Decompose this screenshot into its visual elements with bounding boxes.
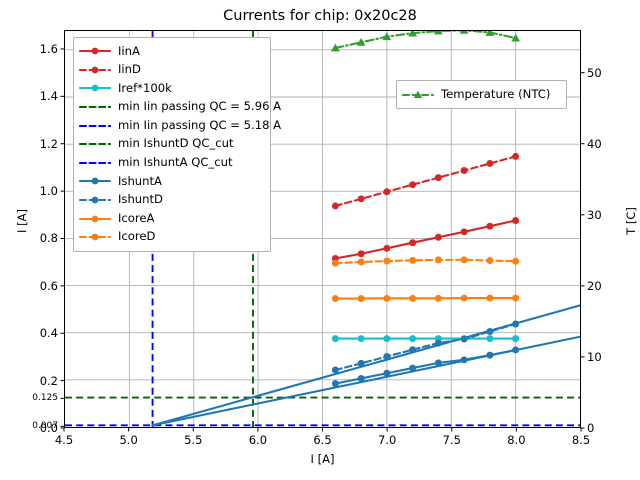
legend-swatch-icon xyxy=(79,174,111,188)
legend-swatch-icon xyxy=(79,137,111,151)
x-axis-label: I [A] xyxy=(64,452,581,466)
legend-item-min-ishunta-qc-cut[interactable]: min IshuntA QC_cut xyxy=(79,154,264,173)
y-axis-label-left: I [A] xyxy=(15,191,29,251)
legend-item-temperature-ntc[interactable]: Temperature (NTC) xyxy=(402,85,560,104)
page-title: Currents for chip: 0x20c28 xyxy=(0,8,640,24)
legend-label: IcoreD xyxy=(118,231,155,243)
y-tick-label-left: 0.2 xyxy=(0,374,58,388)
y-axis-label-right: T [C] xyxy=(624,191,638,251)
legend-swatch-icon xyxy=(79,230,111,244)
legend-label: IshuntA xyxy=(118,176,162,188)
y-tick-label-right: 40 xyxy=(587,137,602,151)
legend-item-iind[interactable]: IinD xyxy=(79,61,264,80)
series-Temperature (NTC) xyxy=(331,30,520,51)
series-IinD xyxy=(332,153,519,209)
y-tick-label-left: 0.8 xyxy=(0,231,58,245)
y-tick-label-left: 1.0 xyxy=(0,184,58,198)
legend-label: IinA xyxy=(118,46,140,58)
y-tick-label-left: 0.125 xyxy=(0,393,58,403)
legend-item-min-iin-passing-qc-5-96-a[interactable]: min Iin passing QC = 5.96 A xyxy=(79,98,264,117)
legend-item-icored[interactable]: IcoreD xyxy=(79,228,264,247)
x-tick-label: 7.5 xyxy=(443,433,461,447)
legend-label: IcoreA xyxy=(118,213,154,225)
legend-swatch-icon xyxy=(79,63,111,77)
legend-item-min-ishuntd-qc-cut[interactable]: min IshuntD QC_cut xyxy=(79,135,264,154)
legend-swatch-icon xyxy=(402,88,434,102)
y-tick-label-right: 30 xyxy=(587,208,602,222)
series-IcoreA xyxy=(332,295,519,302)
y-tick-label-right: 10 xyxy=(587,350,602,364)
legend-swatch-icon xyxy=(79,100,111,114)
x-tick-label: 6.0 xyxy=(249,433,267,447)
legend-temperature[interactable]: Temperature (NTC) xyxy=(396,80,567,109)
y-tick-label-left: 0.007 xyxy=(0,421,58,431)
x-tick-label: 6.5 xyxy=(313,433,331,447)
y-tick-label-left: 1.2 xyxy=(0,137,58,151)
y-tick-label-left: 1.6 xyxy=(0,42,58,56)
x-tick-label: 7.0 xyxy=(378,433,396,447)
legend-label: Temperature (NTC) xyxy=(441,89,550,101)
legend-swatch-icon xyxy=(79,156,111,170)
y-tick-label-left: 0.6 xyxy=(0,279,58,293)
y-tick-label-left: 0.4 xyxy=(0,326,58,340)
legend-swatch-icon xyxy=(79,193,111,207)
legend-swatch-icon xyxy=(79,119,111,133)
legend-item-iina[interactable]: IinA xyxy=(79,42,264,61)
series-Iref*100k xyxy=(332,335,519,342)
legend-swatch-icon xyxy=(79,44,111,58)
y-tick-label-right: 0 xyxy=(587,421,594,435)
y-tick-label-right: 20 xyxy=(587,279,602,293)
x-tick-label: 8.0 xyxy=(507,433,525,447)
x-tick-label: 4.5 xyxy=(55,433,73,447)
x-tick-label: 5.0 xyxy=(119,433,137,447)
x-tick-label: 5.5 xyxy=(184,433,202,447)
series-IinA xyxy=(332,217,519,262)
legend-label: Iref*100k xyxy=(118,83,172,95)
legend-label: IinD xyxy=(118,64,141,76)
y-tick-label-left: 1.4 xyxy=(0,89,58,103)
legend-main[interactable]: IinAIinDIref*100kmin Iin passing QC = 5.… xyxy=(73,37,271,252)
series-IcoreD xyxy=(332,256,519,266)
legend-item-ishuntd[interactable]: IshuntD xyxy=(79,191,264,210)
legend-item-iref-100k[interactable]: Iref*100k xyxy=(79,79,264,98)
legend-label: min IshuntA QC_cut xyxy=(118,157,233,169)
legend-label: min Iin passing QC = 5.96 A xyxy=(118,101,281,113)
legend-swatch-icon xyxy=(79,212,111,226)
chart-figure: Currents for chip: 0x20c28 4.55.05.56.06… xyxy=(0,0,640,480)
legend-label: min Iin passing QC = 5.18 A xyxy=(118,120,281,132)
legend-item-min-iin-passing-qc-5-18-a[interactable]: min Iin passing QC = 5.18 A xyxy=(79,116,264,135)
legend-label: IshuntD xyxy=(118,194,163,206)
legend-swatch-icon xyxy=(79,81,111,95)
x-tick-label: 8.5 xyxy=(572,433,590,447)
legend-item-icorea[interactable]: IcoreA xyxy=(79,209,264,228)
legend-item-ishunta[interactable]: IshuntA xyxy=(79,172,264,191)
legend-label: min IshuntD QC_cut xyxy=(118,138,234,150)
y-tick-label-right: 50 xyxy=(587,66,602,80)
